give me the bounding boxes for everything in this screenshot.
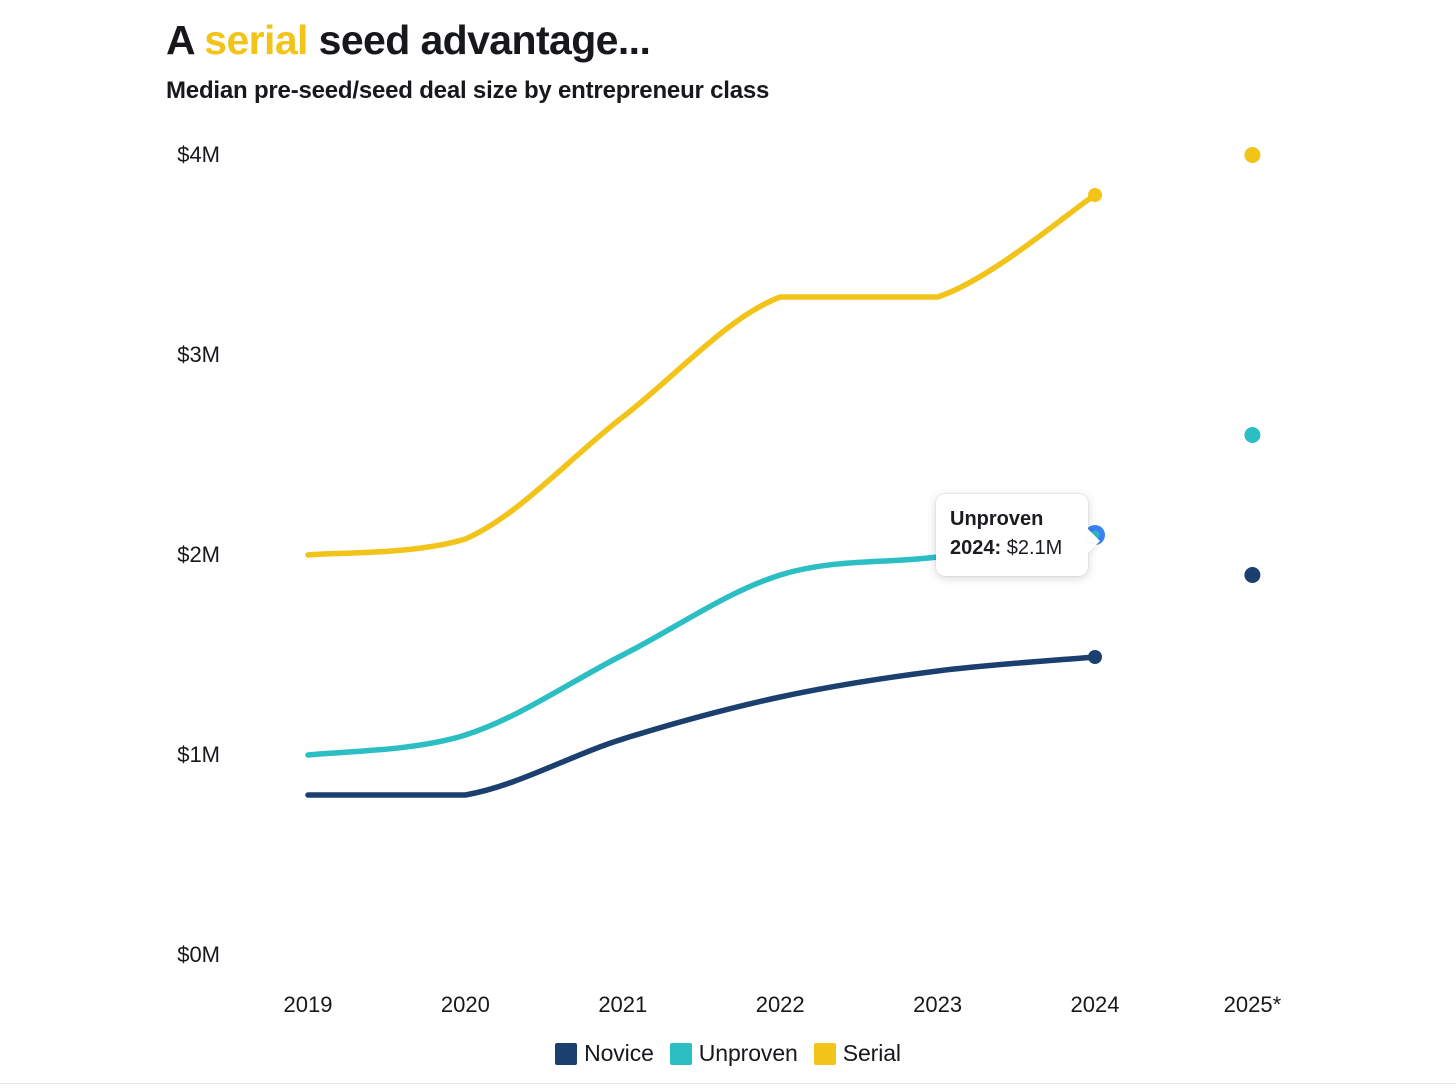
x-tick-label: 2022 xyxy=(720,992,840,1018)
series-line-novice xyxy=(308,657,1095,795)
legend-item-novice[interactable]: Novice xyxy=(555,1040,654,1067)
legend-item-unproven[interactable]: Unproven xyxy=(670,1040,798,1067)
legend-item-serial[interactable]: Serial xyxy=(814,1040,901,1067)
tooltip-pointer-icon xyxy=(1087,528,1100,554)
x-tick-label: 2019 xyxy=(248,992,368,1018)
y-tick-label: $4M xyxy=(150,142,220,168)
tooltip-value: $2.1M xyxy=(1007,537,1063,559)
x-tick-label: 2025* xyxy=(1192,992,1312,1018)
endpoint-marker-serial[interactable] xyxy=(1088,188,1102,202)
x-tick-label: 2021 xyxy=(563,992,683,1018)
y-tick-label: $0M xyxy=(150,942,220,968)
forecast-point-unproven-2025[interactable] xyxy=(1244,427,1260,443)
chart-page: A serial seed advantage... Median pre-se… xyxy=(0,0,1456,1090)
chart-plot-area[interactable]: $4M$3M$2M$1M$0M 201920202021202220232024… xyxy=(0,0,1456,1090)
forecast-point-novice-2025[interactable] xyxy=(1244,567,1260,583)
tooltip-detail: 2024: $2.1M xyxy=(950,535,1074,562)
legend-swatch-icon xyxy=(814,1043,836,1065)
forecast-point-serial-2025[interactable] xyxy=(1244,147,1260,163)
chart-legend: NoviceUnprovenSerial xyxy=(0,1040,1456,1067)
legend-label: Unproven xyxy=(699,1040,798,1067)
x-tick-label: 2023 xyxy=(878,992,998,1018)
x-tick-label: 2020 xyxy=(405,992,525,1018)
legend-swatch-icon xyxy=(555,1043,577,1065)
x-tick-label: 2024 xyxy=(1035,992,1155,1018)
data-tooltip: Unproven 2024: $2.1M xyxy=(936,494,1088,576)
tooltip-series-name: Unproven xyxy=(950,506,1074,533)
y-tick-label: $3M xyxy=(150,342,220,368)
endpoint-marker-novice[interactable] xyxy=(1088,650,1102,664)
bottom-divider xyxy=(0,1083,1456,1084)
y-tick-label: $2M xyxy=(150,542,220,568)
tooltip-year: 2024: xyxy=(950,537,1001,559)
y-tick-label: $1M xyxy=(150,742,220,768)
legend-swatch-icon xyxy=(670,1043,692,1065)
series-points[interactable] xyxy=(1085,147,1260,664)
legend-label: Novice xyxy=(584,1040,654,1067)
legend-label: Serial xyxy=(843,1040,901,1067)
